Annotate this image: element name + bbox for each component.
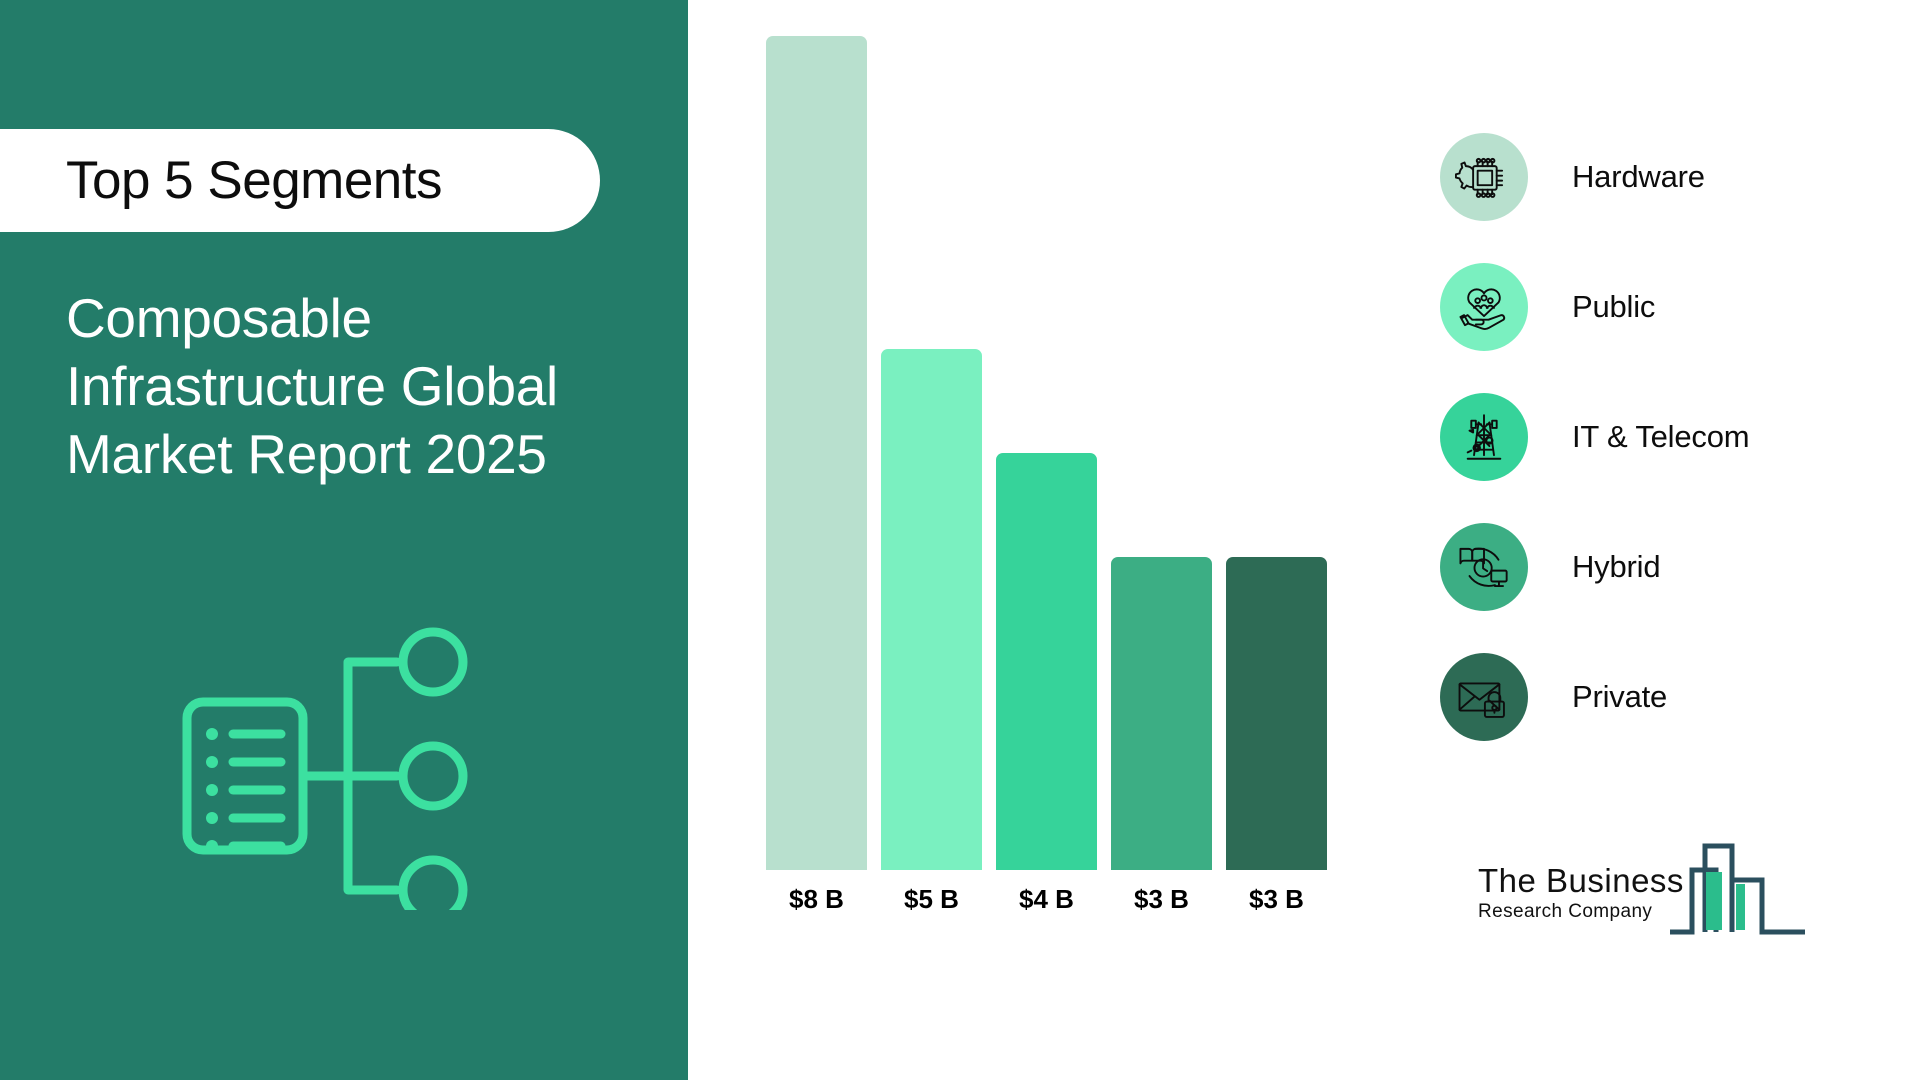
report-title-line-1: Composable [66, 284, 636, 352]
legend-item-hybrid[interactable]: Hybrid [1440, 523, 1880, 611]
legend-badge [1440, 263, 1528, 351]
legend-badge [1440, 653, 1528, 741]
bar-value-label: $5 B [881, 884, 982, 915]
report-title-line-2: Infrastructure Global [66, 352, 636, 420]
bar [766, 36, 867, 870]
bar-column-it-telecom [996, 0, 1097, 870]
segments-tree-icon [165, 610, 505, 910]
legend-badge [1440, 133, 1528, 221]
hand-heart-people-icon [1455, 278, 1513, 336]
legend-label: Public [1572, 289, 1655, 325]
left-title-panel: Top 5 Segments Composable Infrastructure… [0, 0, 688, 1080]
brand-logo: The Business Research Company [1478, 840, 1808, 970]
cell-tower-icon [1455, 408, 1513, 466]
legend-badge [1440, 393, 1528, 481]
logo-line-2: Research Company [1478, 902, 1688, 921]
legend-label: Private [1572, 679, 1667, 715]
cpu-chip-gear-icon [1455, 148, 1513, 206]
bar [1111, 557, 1212, 870]
bar-value-label: $3 B [1111, 884, 1212, 915]
legend: HardwarePublicIT & TelecomHybridPrivate [1440, 133, 1880, 783]
legend-badge [1440, 523, 1528, 611]
top-segments-badge: Top 5 Segments [0, 129, 600, 232]
logo-line-1: The Business [1478, 864, 1688, 897]
report-title: Composable Infrastructure Global Market … [66, 284, 636, 489]
bar [996, 453, 1097, 870]
bar-value-label: $8 B [766, 884, 867, 915]
report-title-line-3: Market Report 2025 [66, 420, 636, 488]
envelope-lock-icon [1455, 668, 1513, 726]
bar [1226, 557, 1327, 870]
legend-item-public[interactable]: Public [1440, 263, 1880, 351]
bar-column-hardware [766, 0, 867, 870]
bars-container: $8 B$5 B$4 B$3 B$3 B [766, 0, 1326, 870]
logo-wordmark: The Business Research Company [1478, 864, 1688, 921]
bar-chart-logo-icon [1670, 840, 1810, 944]
bar [881, 349, 982, 870]
bar-value-label: $3 B [1226, 884, 1327, 915]
bar-column-public [881, 0, 982, 870]
book-clock-monitor-icon [1455, 538, 1513, 596]
bar-column-private [1226, 0, 1327, 870]
legend-item-it-telecom[interactable]: IT & Telecom [1440, 393, 1880, 481]
bar-value-label: $4 B [996, 884, 1097, 915]
legend-label: IT & Telecom [1572, 419, 1749, 455]
legend-item-private[interactable]: Private [1440, 653, 1880, 741]
legend-item-hardware[interactable]: Hardware [1440, 133, 1880, 221]
badge-label: Top 5 Segments [66, 150, 442, 211]
bar-column-hybrid [1111, 0, 1212, 870]
legend-label: Hardware [1572, 159, 1705, 195]
legend-label: Hybrid [1572, 549, 1660, 585]
